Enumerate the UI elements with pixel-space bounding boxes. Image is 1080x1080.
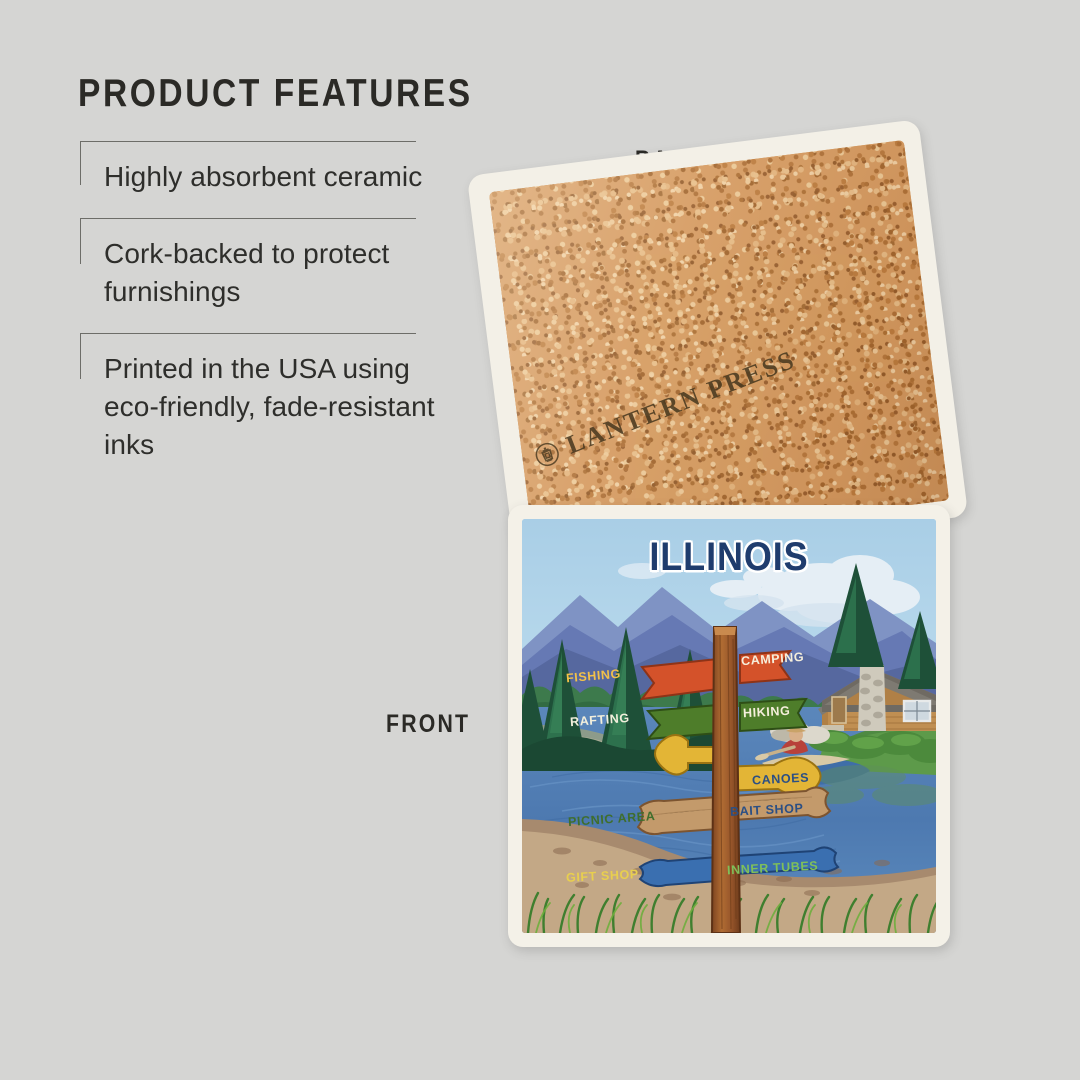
feature-bracket [80, 333, 81, 379]
feature-bracket [80, 218, 81, 264]
feature-bracket [80, 141, 81, 185]
feature-item: Cork-backed to protect furnishings [78, 218, 448, 311]
feature-text: Cork-backed to protect furnishings [104, 218, 448, 311]
coaster-front-view: ILLINOIS FISHING CAMPING RAFTING HIKING … [508, 505, 950, 947]
product-features-panel: PRODUCT FEATURES Highly absorbent cerami… [78, 74, 448, 486]
feature-text: Printed in the USA using eco-friendly, f… [104, 333, 448, 464]
coaster-artwork: ILLINOIS FISHING CAMPING RAFTING HIKING … [522, 519, 936, 933]
product-image-canvas: PRODUCT FEATURES Highly absorbent cerami… [0, 0, 1080, 1080]
feature-item: Printed in the USA using eco-friendly, f… [78, 333, 448, 464]
artwork-illustration [522, 519, 936, 933]
feature-divider [80, 141, 416, 142]
feature-divider [80, 333, 416, 334]
feature-text: Highly absorbent ceramic [104, 141, 448, 196]
page-title: PRODUCT FEATURES [78, 74, 396, 113]
feature-item: Highly absorbent ceramic [78, 141, 448, 196]
feature-divider [80, 218, 416, 219]
cork-surface: LANTERN PRESS [489, 140, 949, 553]
label-front: FRONT [386, 710, 470, 739]
cork-sheen [489, 140, 949, 553]
